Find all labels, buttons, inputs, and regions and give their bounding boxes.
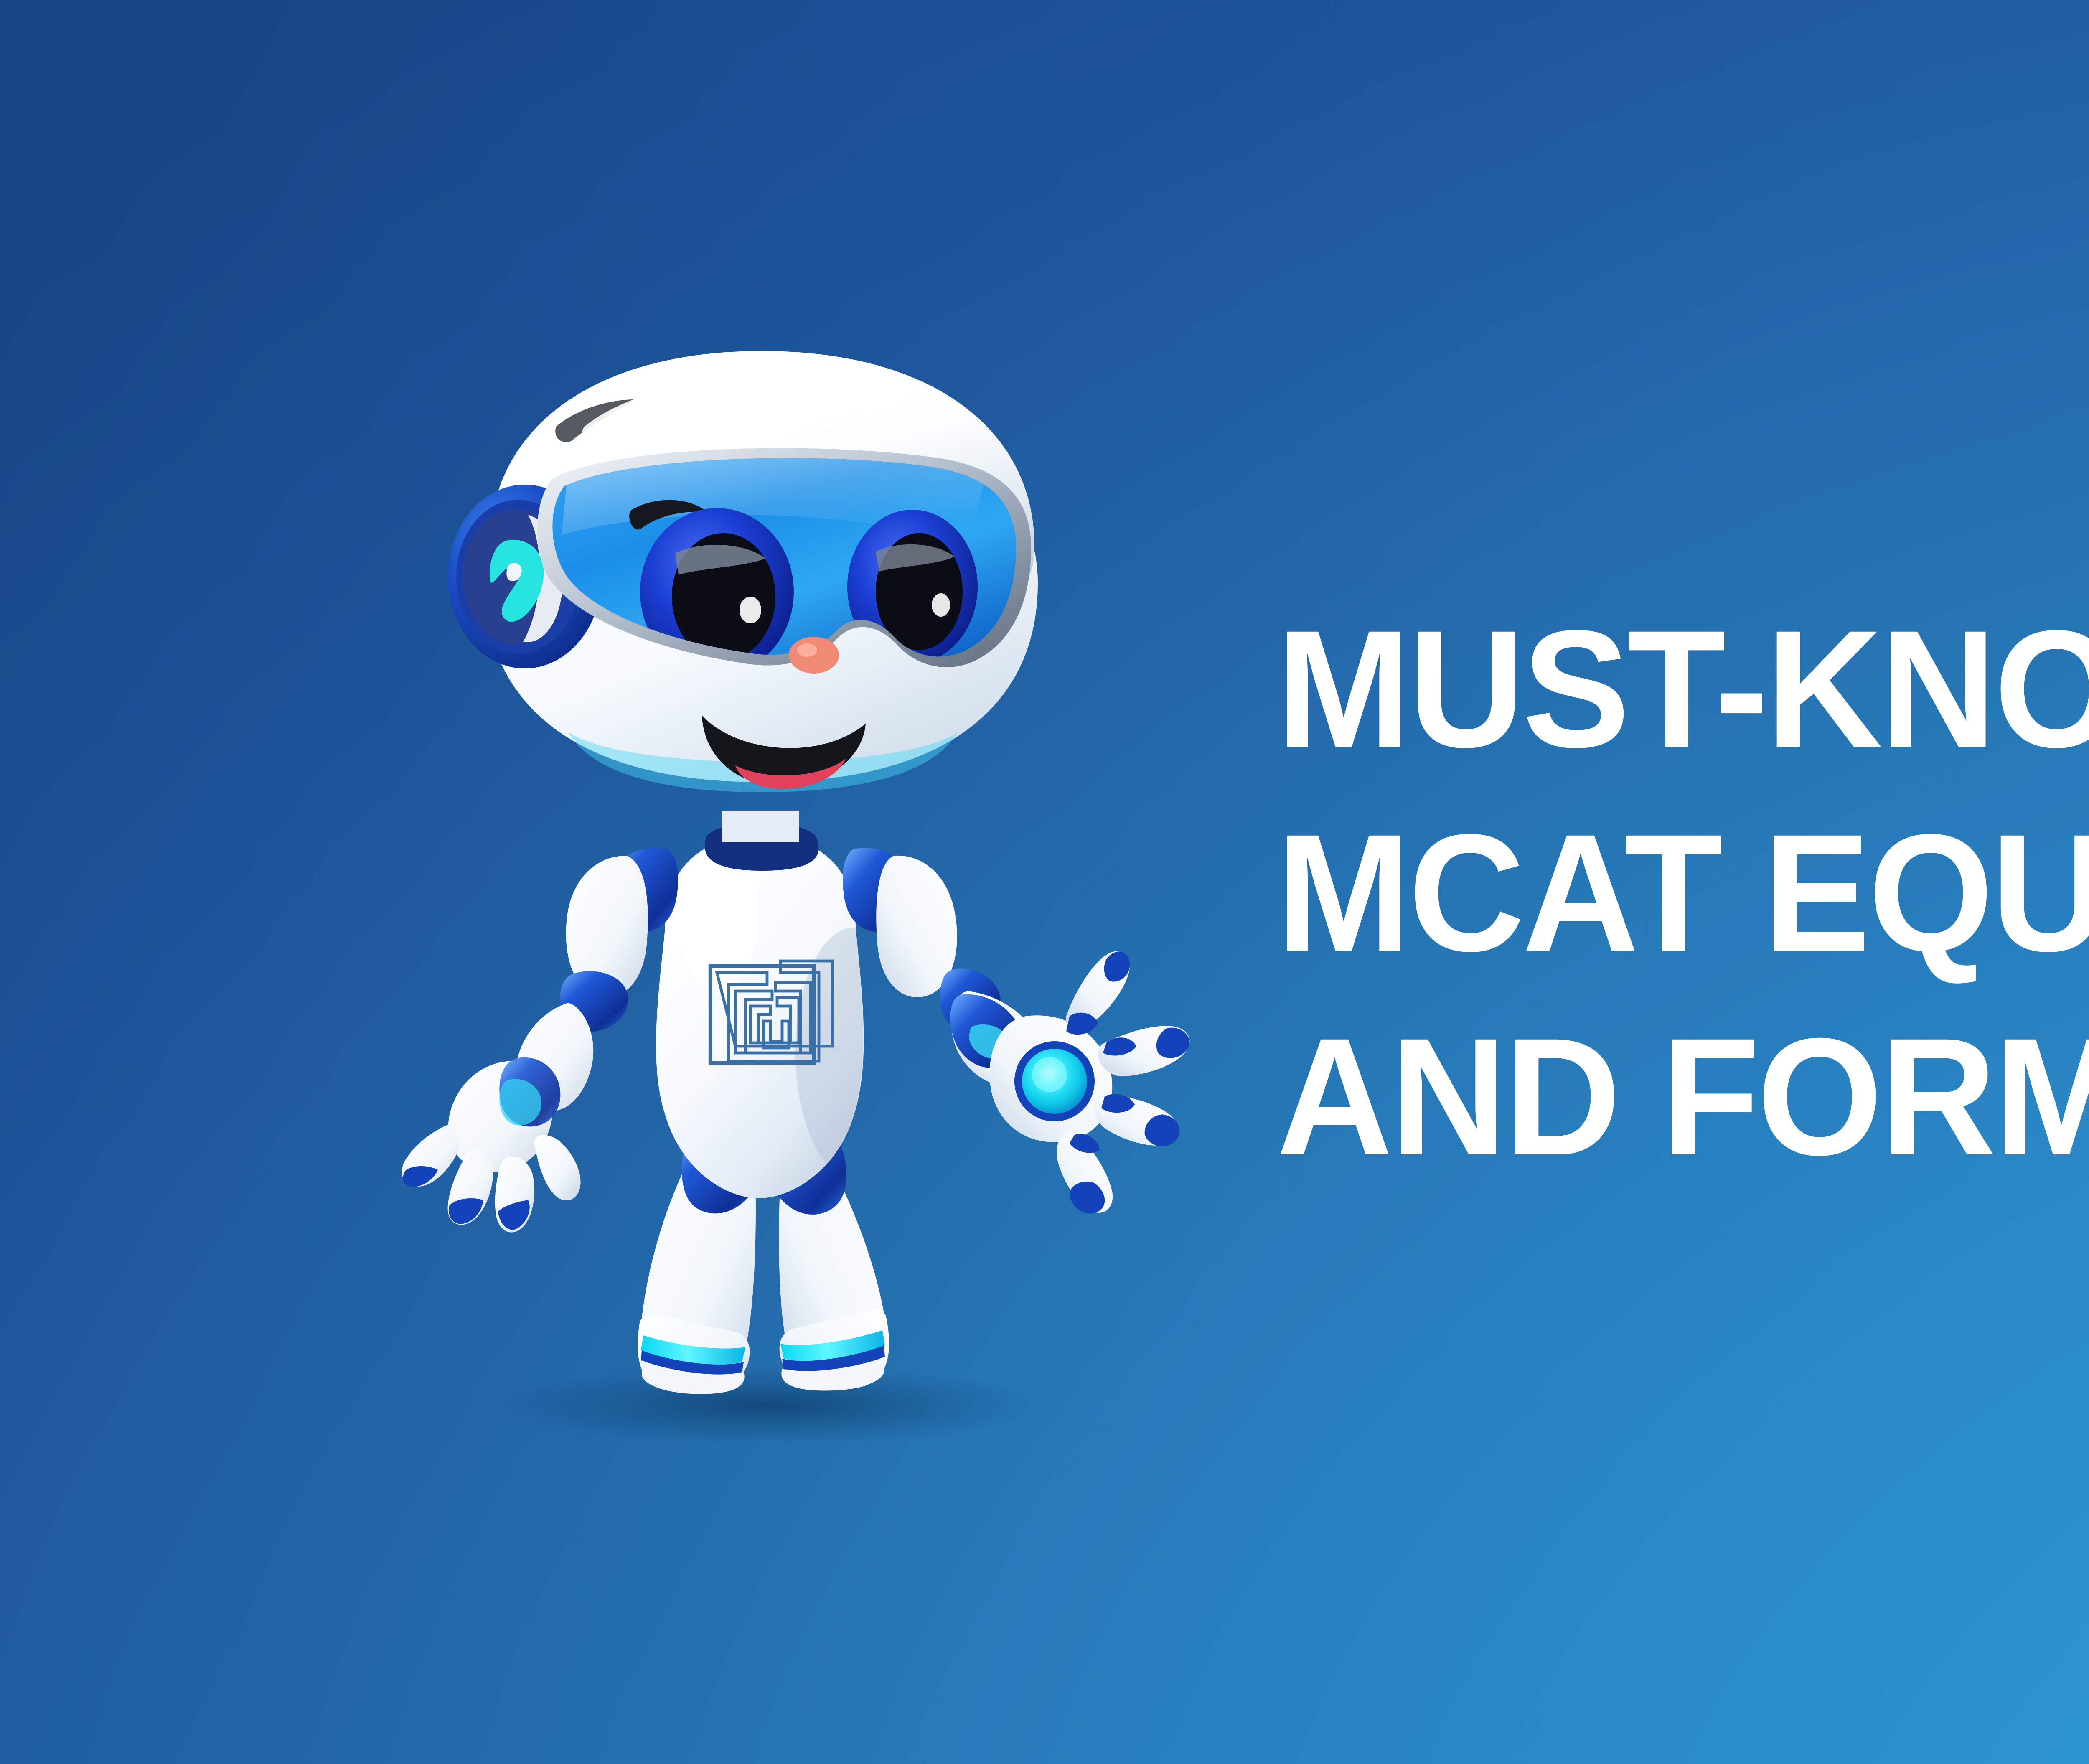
neck-post bbox=[722, 811, 799, 842]
nose-highlight bbox=[797, 643, 817, 657]
eye-right-glint bbox=[932, 593, 950, 617]
headline-line-2: MCAT EQUATIONS bbox=[1276, 791, 2089, 995]
robot-mascot bbox=[234, 259, 1287, 1441]
poster-canvas: MUST-KNOW MCAT EQUATIONS AND FORMULAS bbox=[0, 0, 2089, 1764]
head bbox=[448, 351, 1038, 792]
eye-left-glint bbox=[740, 597, 761, 623]
headline-line-3: AND FORMULAS bbox=[1276, 995, 2089, 1199]
palm-glow-core bbox=[1032, 1057, 1067, 1092]
right-arm bbox=[876, 856, 1189, 1214]
headline: MUST-KNOW MCAT EQUATIONS AND FORMULAS bbox=[1276, 587, 2089, 1199]
left-arm bbox=[402, 856, 648, 1233]
nose bbox=[789, 637, 839, 674]
robot-shadow bbox=[493, 1365, 1044, 1441]
headline-line-1: MUST-KNOW bbox=[1276, 587, 2089, 791]
